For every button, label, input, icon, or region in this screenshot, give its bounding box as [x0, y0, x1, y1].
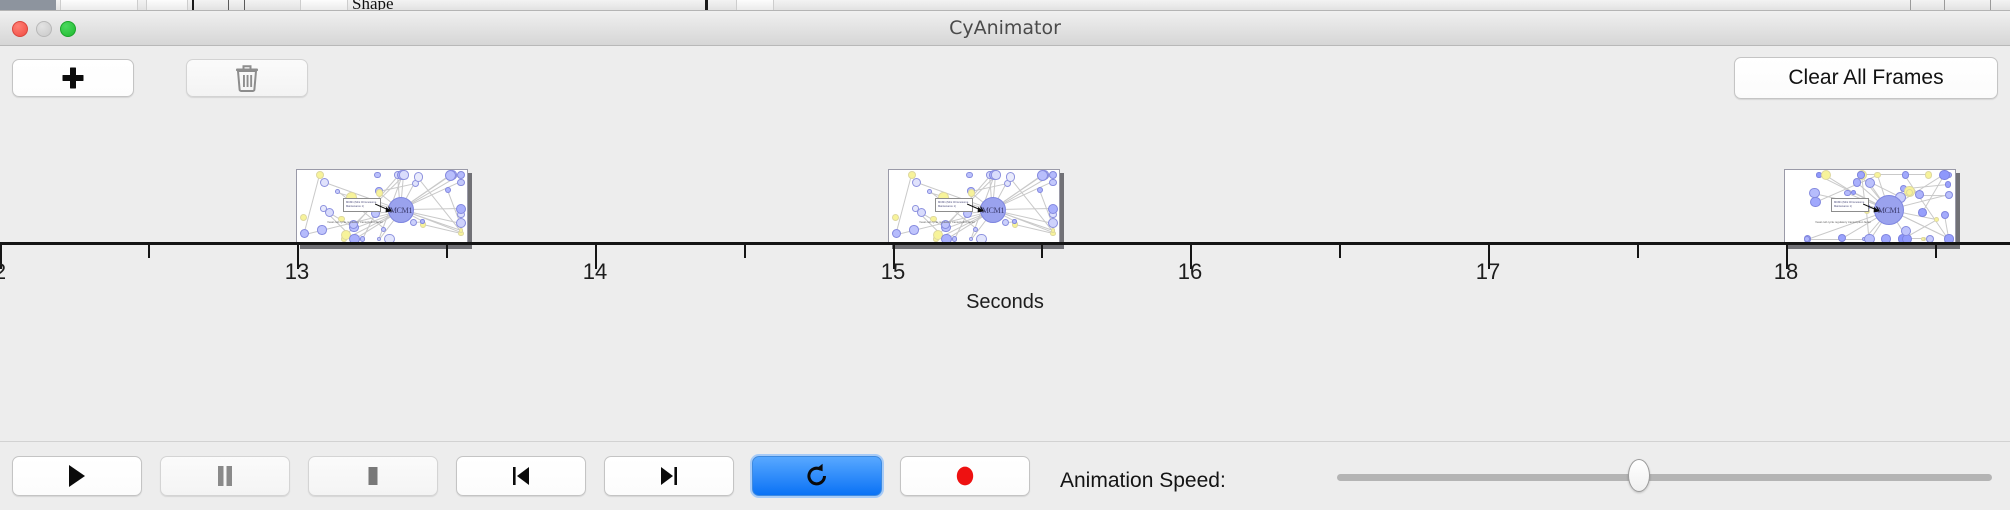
background-window-panel — [60, 0, 138, 11]
graph-node — [445, 187, 451, 193]
graph-node — [892, 214, 899, 221]
graph-node — [1902, 171, 1910, 179]
add-frame-button[interactable] — [12, 59, 134, 97]
ruler-minor-tick — [1935, 245, 1937, 258]
graph-node — [1857, 171, 1865, 179]
skip-back-icon — [508, 464, 534, 488]
ruler-minor-tick — [148, 245, 150, 258]
graph-node — [1049, 179, 1056, 186]
graph-edge — [1861, 174, 1928, 175]
plus-icon — [60, 65, 86, 91]
graph-node — [1915, 190, 1924, 199]
graph-node — [1925, 171, 1932, 178]
frame-thumbnail[interactable]: MCM1MCM1 (Mini ChromosomeMaintenance 1)Y… — [296, 169, 468, 245]
ruler-minor-tick — [1041, 245, 1043, 258]
trash-icon — [234, 64, 260, 92]
graph-node — [1934, 217, 1939, 222]
graph-node — [912, 178, 921, 187]
graph-node — [1051, 228, 1056, 233]
record-icon — [952, 463, 978, 489]
window-titlebar: CyAnimator — [0, 11, 2010, 46]
graph-tooltip-line: Maintenance 1) — [346, 205, 378, 209]
play-button[interactable] — [12, 456, 142, 496]
graph-node — [320, 205, 327, 212]
graph-node — [374, 172, 381, 179]
loop-button[interactable] — [752, 456, 882, 496]
background-window-tab — [0, 0, 56, 11]
tooltip-pointer-arrow — [375, 203, 395, 215]
ruler-tick-label: 2 — [0, 259, 6, 285]
skip-back-button[interactable] — [456, 456, 586, 496]
graph-node — [1810, 197, 1821, 208]
stop-icon — [362, 464, 384, 488]
graph-node — [317, 225, 326, 234]
graph-node — [908, 171, 916, 179]
graph-caption: Yeast cell cycle regulatory transcriptio… — [327, 220, 383, 224]
graph-node — [1851, 190, 1856, 195]
play-icon — [66, 464, 88, 488]
graph-node — [300, 214, 307, 221]
graph-node — [909, 225, 918, 234]
graph-caption: Yeast cell cycle regulatory transcriptio… — [919, 220, 975, 224]
graph-node — [991, 170, 1000, 179]
graph-node — [912, 205, 919, 212]
background-window-strip: Shape — [0, 0, 2010, 11]
seconds-axis-label: Seconds — [0, 291, 2010, 314]
graph-tooltip-line: Maintenance 1) — [1834, 205, 1866, 209]
timeline-axis-line — [0, 242, 2010, 245]
frame-toolbar: Clear All Frames — [0, 46, 2010, 110]
network-graph-canvas: MCM1MCM1 (Mini ChromosomeMaintenance 1)Y… — [889, 170, 1059, 244]
slider-thumb[interactable] — [1628, 459, 1650, 492]
background-window-tick — [228, 0, 229, 11]
graph-node — [300, 229, 309, 238]
animation-speed-label: Animation Speed: — [1060, 469, 1226, 493]
close-window-button[interactable] — [12, 21, 28, 37]
graph-node — [1012, 219, 1016, 223]
graph-node — [459, 228, 464, 233]
background-window-tick — [705, 0, 708, 11]
graph-node — [1941, 211, 1949, 219]
stop-button[interactable] — [308, 456, 438, 496]
graph-node — [457, 179, 464, 186]
animation-speed-slider[interactable] — [1337, 468, 1992, 486]
ruler-tick-label: 18 — [1774, 259, 1798, 285]
background-window-panel — [736, 0, 774, 11]
tooltip-pointer-arrow — [1863, 203, 1883, 215]
graph-node — [1874, 172, 1881, 179]
ruler-minor-tick — [744, 245, 746, 258]
clear-all-frames-button[interactable]: Clear All Frames — [1734, 57, 1998, 99]
ruler-minor-tick — [1637, 245, 1639, 258]
graph-node — [1918, 208, 1927, 217]
ruler-tick-label: 16 — [1178, 259, 1202, 285]
graph-node — [966, 172, 973, 179]
ruler-tick-label: 13 — [285, 259, 309, 285]
background-window-notch — [1944, 0, 1945, 11]
graph-node — [1939, 170, 1950, 181]
graph-caption: Yeast cell cycle regulatory transcriptio… — [1815, 220, 1871, 224]
graph-node — [1945, 181, 1951, 187]
graph-edge — [304, 175, 320, 234]
network-graph-canvas: MCM1MCM1 (Mini ChromosomeMaintenance 1)Y… — [1785, 170, 1955, 244]
graph-node — [377, 237, 382, 242]
graph-node — [1037, 187, 1043, 193]
minimize-window-button[interactable] — [36, 21, 52, 37]
skip-forward-button[interactable] — [604, 456, 734, 496]
graph-node — [1006, 172, 1016, 182]
graph-node — [1865, 178, 1875, 188]
ruler-tick-label: 15 — [881, 259, 905, 285]
graph-node — [1945, 191, 1953, 199]
graph-node — [892, 229, 901, 238]
delete-frame-button[interactable] — [186, 59, 308, 97]
playback-control-bar: Animation Speed: — [0, 441, 2010, 510]
graph-node — [399, 170, 408, 179]
graph-edge — [1807, 239, 1864, 240]
pause-button[interactable] — [160, 456, 290, 496]
ruler-minor-tick — [1339, 245, 1341, 258]
graph-node — [414, 172, 424, 182]
background-window-tick — [244, 0, 245, 11]
ruler-tick-label: 14 — [583, 259, 607, 285]
graph-node — [969, 237, 974, 242]
background-window-tick — [192, 0, 194, 11]
background-window-panel — [300, 0, 348, 11]
network-graph-canvas: MCM1MCM1 (Mini ChromosomeMaintenance 1)Y… — [297, 170, 467, 244]
graph-node — [1838, 234, 1847, 243]
frame-thumbnail[interactable]: MCM1MCM1 (Mini ChromosomeMaintenance 1)Y… — [1784, 169, 1956, 245]
slider-track — [1337, 474, 1992, 481]
graph-node — [456, 218, 466, 228]
pause-icon — [214, 464, 236, 488]
graph-node — [952, 236, 957, 241]
timeline-panel[interactable]: MCM1MCM1 (Mini ChromosomeMaintenance 1)Y… — [0, 111, 2010, 411]
ruler-minor-tick — [446, 245, 448, 258]
maximize-window-button[interactable] — [60, 21, 76, 37]
graph-node — [1002, 219, 1009, 226]
background-window-shape-label: Shape — [352, 0, 394, 11]
graph-tooltip-line: Maintenance 1) — [938, 205, 970, 209]
tooltip-pointer-arrow — [967, 203, 987, 215]
background-window-notch — [1910, 0, 1911, 11]
graph-node — [1048, 218, 1058, 228]
frame-thumbnail[interactable]: MCM1MCM1 (Mini ChromosomeMaintenance 1)Y… — [888, 169, 1060, 245]
background-window-panel — [146, 0, 188, 11]
background-window-notch — [1990, 0, 1991, 11]
skip-forward-icon — [656, 464, 682, 488]
window-title: CyAnimator — [0, 11, 2010, 46]
traffic-light-group — [12, 21, 76, 37]
graph-node — [360, 236, 365, 241]
graph-node — [320, 178, 329, 187]
graph-node — [1844, 190, 1850, 196]
ruler-tick-label: 17 — [1476, 259, 1500, 285]
graph-node — [420, 219, 424, 223]
loop-icon — [804, 463, 830, 489]
graph-node — [1901, 226, 1911, 236]
graph-edge — [896, 175, 912, 234]
graph-node — [316, 171, 324, 179]
graph-node — [410, 219, 417, 226]
record-button[interactable] — [900, 456, 1030, 496]
